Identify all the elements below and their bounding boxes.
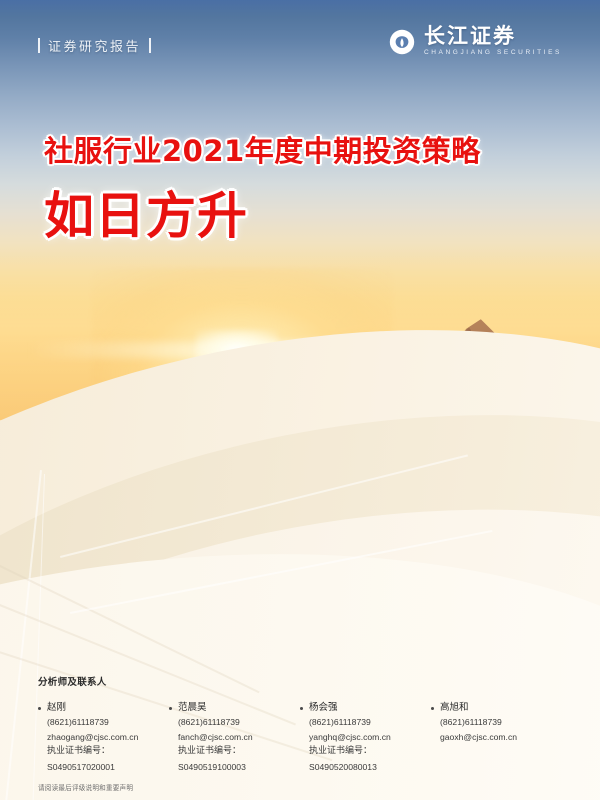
analyst-name: 赵刚 xyxy=(47,701,66,715)
analyst-phone: (8621)61118739 xyxy=(309,715,431,730)
report-cover-page: 证券研究报告 长江证券 CHANGJIANG SECURITIES 社服行业20… xyxy=(0,0,600,800)
company-logo: 长江证券 CHANGJIANG SECURITIES xyxy=(387,26,562,57)
analyst-column: 范晨昊 (8621)61118739 fanch@cjsc.com.cn 执业证… xyxy=(169,701,300,775)
logo-cn-name: 长江证券 xyxy=(424,26,562,47)
logo-wordmark: 长江证券 CHANGJIANG SECURITIES xyxy=(424,26,562,57)
analyst-cert-label: 执业证书编号： xyxy=(178,744,300,759)
analyst-email[interactable]: fanch@cjsc.com.cn xyxy=(178,730,300,745)
analyst-name: 高旭和 xyxy=(440,701,469,715)
analyst-name-row: 高旭和 xyxy=(431,701,562,715)
analyst-name: 杨会强 xyxy=(309,701,338,715)
report-type-label: 证券研究报告 xyxy=(38,36,151,55)
analyst-details: (8621)61118739 zhaogang@cjsc.com.cn 执业证书… xyxy=(47,715,169,775)
bullet-icon xyxy=(169,707,172,710)
analyst-email[interactable]: zhaogang@cjsc.com.cn xyxy=(47,730,169,745)
analyst-name-row: 赵刚 xyxy=(38,701,169,715)
analyst-cert-number: S0490517020001 xyxy=(47,760,169,775)
analyst-cert-number: S0490519100003 xyxy=(178,760,300,775)
analyst-phone: (8621)61118739 xyxy=(440,715,562,730)
analyst-phone: (8621)61118739 xyxy=(47,715,169,730)
footer-disclaimer: 请阅读最后评级说明和重要声明 xyxy=(38,782,133,792)
analyst-email[interactable]: gaoxh@cjsc.com.cn xyxy=(440,730,562,745)
logo-en-name: CHANGJIANG SECURITIES xyxy=(424,50,562,57)
analyst-name-row: 范晨昊 xyxy=(169,701,300,715)
bullet-icon xyxy=(300,707,303,710)
analyst-cert-label: 执业证书编号： xyxy=(47,744,169,759)
page-header: 证券研究报告 长江证券 CHANGJIANG SECURITIES xyxy=(0,0,600,80)
report-type-text: 证券研究报告 xyxy=(48,36,141,55)
report-subtitle: 如日方升 xyxy=(44,190,481,243)
analyst-name-row: 杨会强 xyxy=(300,701,431,715)
analysts-section: 分析师及联系人 赵刚 (8621)61118739 zhaogang@cjsc.… xyxy=(38,674,574,775)
analyst-cert-label: 执业证书编号： xyxy=(309,744,431,759)
analyst-column: 高旭和 (8621)61118739 gaoxh@cjsc.com.cn xyxy=(431,701,562,775)
analyst-email[interactable]: yanghq@cjsc.com.cn xyxy=(309,730,431,745)
analyst-details: (8621)61118739 gaoxh@cjsc.com.cn xyxy=(440,715,562,745)
analyst-phone: (8621)61118739 xyxy=(178,715,300,730)
bullet-icon xyxy=(38,707,41,710)
bullet-icon xyxy=(431,707,434,710)
analyst-column: 赵刚 (8621)61118739 zhaogang@cjsc.com.cn 执… xyxy=(38,701,169,775)
analysts-grid: 赵刚 (8621)61118739 zhaogang@cjsc.com.cn 执… xyxy=(38,701,574,775)
analyst-cert-number: S0490520080013 xyxy=(309,760,431,775)
analyst-details: (8621)61118739 yanghq@cjsc.com.cn 执业证书编号… xyxy=(309,715,431,775)
report-title: 社服行业2021年度中期投资策略 xyxy=(44,136,481,168)
analyst-details: (8621)61118739 fanch@cjsc.com.cn 执业证书编号：… xyxy=(178,715,300,775)
analyst-column: 杨会强 (8621)61118739 yanghq@cjsc.com.cn 执业… xyxy=(300,701,431,775)
changjiang-bird-icon xyxy=(387,26,417,56)
analyst-name: 范晨昊 xyxy=(178,701,207,715)
cover-title-block: 社服行业2021年度中期投资策略 如日方升 xyxy=(44,136,481,242)
divider-bar-left xyxy=(38,38,40,53)
divider-bar-right xyxy=(149,38,151,53)
analysts-heading: 分析师及联系人 xyxy=(38,674,574,688)
